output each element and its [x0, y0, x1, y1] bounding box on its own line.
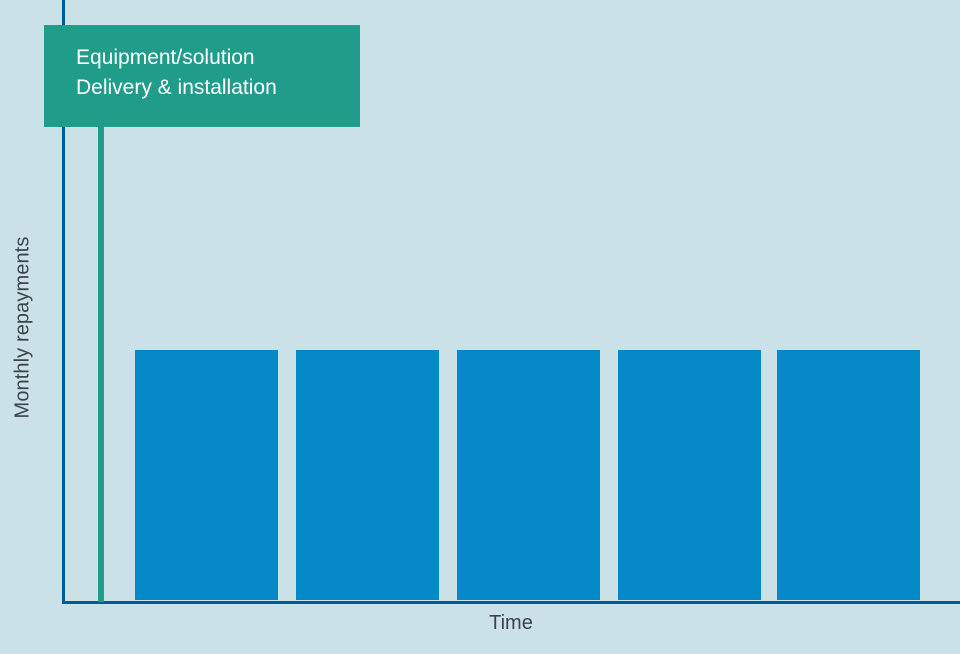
bar-1 [135, 350, 278, 600]
x-axis-title-label: Time [489, 612, 533, 634]
event-marker-line [98, 127, 104, 602]
y-axis-title: Monthly repayments [0, 0, 46, 654]
event-callout-line-2: Delivery & installation [76, 73, 360, 103]
x-axis-title: Time [62, 612, 960, 635]
x-axis-line [62, 601, 960, 604]
bar-4 [618, 350, 761, 600]
y-axis-title-label: Monthly repayments [12, 236, 35, 418]
event-callout-box: Equipment/solution Delivery & installati… [44, 25, 360, 127]
bar-5 [777, 350, 920, 600]
bar-3 [457, 350, 600, 600]
event-callout-line-1: Equipment/solution [76, 43, 360, 73]
chart-canvas: Monthly repayments Equipment/solution De… [0, 0, 960, 654]
bar-2 [296, 350, 439, 600]
